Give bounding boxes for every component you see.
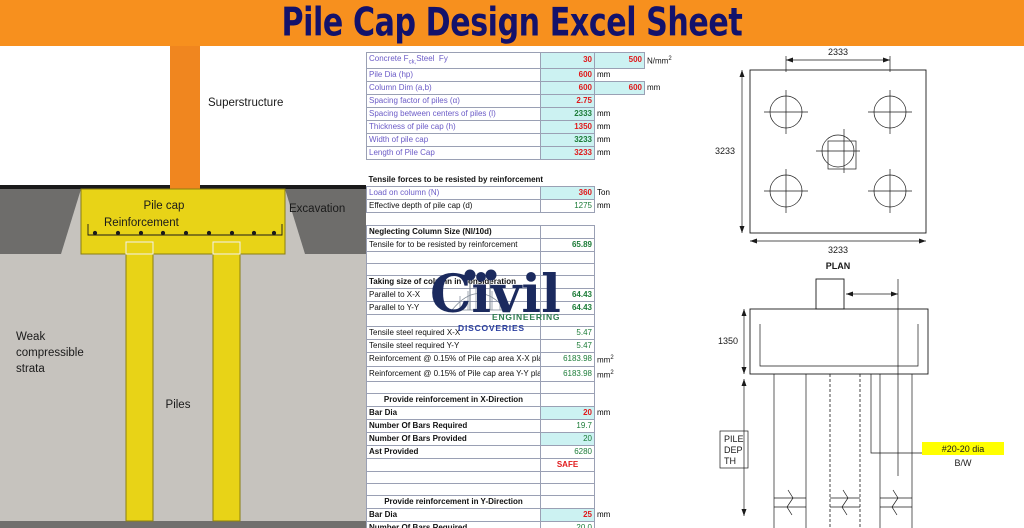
- cell-value-fck[interactable]: 30: [541, 52, 595, 69]
- cell-unit-reinf-yy: mm2: [595, 367, 645, 382]
- label-reinforcement: Reinforcement: [104, 217, 180, 229]
- cell-value-spacing-centers[interactable]: 2333: [541, 108, 595, 121]
- excel-spreadsheet[interactable]: Concrete Fck,Steel Fy 30 500 N/mm2 Pile …: [366, 46, 688, 528]
- cell-unit-bar-dia-y: mm: [595, 508, 645, 521]
- plan-view-drawing: 2333 3233 3233: [715, 47, 926, 271]
- cell-blank: [645, 339, 689, 352]
- section-view-drawing: 1350 PILE DEP TH: [718, 279, 1004, 528]
- cell-blank: [645, 95, 689, 108]
- cell-blank: [595, 471, 645, 483]
- section-heading-taking-size: Taking size of column in consideration: [367, 275, 541, 288]
- superstructure-column: [170, 46, 200, 189]
- page-title: Pile Cap Design Excel Sheet: [282, 3, 743, 42]
- cell-label-parallel-yy: Parallel to Y-Y: [367, 301, 541, 314]
- cell-label-bar-dia-x: Bar Dia: [367, 406, 541, 419]
- label-pile-cap: Pile cap: [144, 200, 185, 212]
- cell-value-parallel-xx[interactable]: 64.43: [541, 288, 595, 301]
- cell-label-spacing-centers: Spacing between centers of piles (l): [367, 108, 541, 121]
- section-heading-x-direction: Provide reinforcement in X-Direction: [367, 393, 541, 406]
- cell-label-reinf-015-xx: Reinforcement @ 0.15% of Pile cap area X…: [367, 352, 541, 367]
- section-pile-depth-label-2: DEP: [724, 445, 743, 455]
- label-weak-strata-3: strata: [16, 363, 45, 375]
- section-dim-pile-depth: PILE DEP TH: [720, 379, 748, 516]
- cell-value-length[interactable]: 3233: [541, 147, 595, 160]
- table-row[interactable]: Effective depth of pile cap (d) 1275 mm: [367, 199, 689, 212]
- cell-blank: [595, 339, 645, 352]
- section-dim-top: [846, 279, 898, 476]
- cell-value-column-b[interactable]: 600: [595, 82, 645, 95]
- table-row: Taking size of column in consideration: [367, 275, 689, 288]
- cell-blank: [645, 483, 689, 495]
- cell-value-bars-required-x[interactable]: 19.7: [541, 419, 595, 432]
- cell-label-length: Length of Pile Cap: [367, 147, 541, 160]
- label-superstructure: Superstructure: [208, 97, 283, 109]
- cell-blank: [541, 471, 595, 483]
- cell-blank: [595, 393, 645, 406]
- table-row[interactable]: Tensile for to be resisted by reinforcem…: [367, 238, 689, 251]
- plan-dim-top-label: 2333: [828, 47, 848, 57]
- table-row[interactable]: Concrete Fck,Steel Fy 30 500 N/mm2: [367, 52, 689, 69]
- table-row[interactable]: Pile Dia (hp) 600 mm: [367, 69, 689, 82]
- table-row[interactable]: Number Of Bars Required 20.0: [367, 521, 689, 528]
- cell-blank: [645, 367, 689, 382]
- rebar-note-label: #20-20 dia: [942, 444, 985, 454]
- cell-label-reinf-015-yy: Reinforcement @ 0.15% of Pile cap area Y…: [367, 367, 541, 382]
- cell-value-tensile-force-neglect[interactable]: 65.89: [541, 238, 595, 251]
- cell-label-pile-dia: Pile Dia (hp): [367, 69, 541, 82]
- cell-blank: [645, 393, 689, 406]
- table-row[interactable]: Column Dim (a,b) 600 600 mm: [367, 82, 689, 95]
- plan-dim-bottom-label: 3233: [828, 245, 848, 255]
- section-dim-thickness-label: 1350: [718, 336, 738, 346]
- cell-blank: [595, 326, 645, 339]
- cell-blank: [541, 225, 595, 238]
- dense-strata-layer: [0, 521, 366, 528]
- section-pile-cap: [750, 309, 928, 374]
- section-heading-neglecting: Neglecting Column Size (Nl/10d): [367, 225, 541, 238]
- section-pile-2-hidden: [830, 374, 860, 528]
- cell-blank: [645, 352, 689, 367]
- pile-foundation-illustration: Superstructure Pile cap Excavation Reinf…: [0, 46, 366, 528]
- plan-dim-left: 3233: [715, 70, 745, 233]
- cell-unit-bar-dia-x: mm: [595, 406, 645, 419]
- page-banner: Pile Cap Design Excel Sheet: [0, 0, 1024, 46]
- cell-value-bars-required-y[interactable]: 20.0: [541, 521, 595, 528]
- cell-value-fy[interactable]: 500: [595, 52, 645, 69]
- cell-blank: [595, 419, 645, 432]
- table-row[interactable]: Reinforcement @ 0.15% of Pile cap area Y…: [367, 367, 689, 382]
- cell-unit-stress: N/mm2: [645, 52, 689, 69]
- cell-blank: [645, 419, 689, 432]
- table-row: SAFE: [367, 458, 689, 471]
- label-excavation: Excavation: [289, 203, 345, 215]
- cell-unit-pile-dia: mm: [595, 69, 645, 82]
- cell-blank: [595, 495, 645, 508]
- table-row[interactable]: Length of Pile Cap 3233 mm: [367, 147, 689, 160]
- cell-blank: [367, 251, 541, 263]
- cell-value-bar-dia-y[interactable]: 25: [541, 508, 595, 521]
- cell-blank: [541, 381, 595, 393]
- cell-label-effective-depth: Effective depth of pile cap (d): [367, 199, 541, 212]
- cell-unit-length: mm: [595, 147, 645, 160]
- cell-blank: [541, 251, 595, 263]
- cell-blank: [595, 238, 645, 251]
- cell-blank: [645, 445, 689, 458]
- table-row: Provide reinforcement in X-Direction: [367, 393, 689, 406]
- table-row: Tensile forces to be resisted by reinfor…: [367, 174, 689, 187]
- cell-blank: [541, 263, 595, 275]
- section-rebar-leader: [871, 374, 988, 453]
- spreadsheet-table: Concrete Fck,Steel Fy 30 500 N/mm2 Pile …: [366, 46, 688, 528]
- cell-value-parallel-yy[interactable]: 64.43: [541, 301, 595, 314]
- table-row: [367, 471, 689, 483]
- cell-value-reinf-015-xx[interactable]: 6183.98: [541, 352, 595, 367]
- table-row[interactable]: Width of pile cap 3233 mm: [367, 134, 689, 147]
- cell-blank: [645, 495, 689, 508]
- cell-value-bars-provided-x[interactable]: 20: [541, 432, 595, 445]
- section-pile-depth-label-1: PILE: [724, 434, 744, 444]
- cell-value-spacing-factor[interactable]: 2.75: [541, 95, 595, 108]
- cell-blank: [595, 275, 645, 288]
- plan-dim-bottom: 3233: [750, 239, 926, 256]
- label-piles: Piles: [166, 399, 191, 411]
- section-pile-depth-label-3: TH: [724, 456, 736, 466]
- cell-value-ast-provided-x[interactable]: 6280: [541, 445, 595, 458]
- section-heading-y-direction: Provide reinforcement in Y-Direction: [367, 495, 541, 508]
- status-badge-safe-x: SAFE: [541, 458, 595, 471]
- cell-blank: [367, 483, 541, 495]
- cell-label-tensile-steel-xx: Tensile steel required X-X: [367, 326, 541, 339]
- cell-blank: [367, 314, 541, 326]
- cell-value-width[interactable]: 3233: [541, 134, 595, 147]
- cell-blank: [595, 251, 645, 263]
- table-row[interactable]: Bar Dia 20 mm: [367, 406, 689, 419]
- cell-blank: [645, 288, 689, 301]
- cell-blank: [541, 314, 595, 326]
- table-row[interactable]: Load on column (N) 360 Ton: [367, 186, 689, 199]
- cell-blank: [595, 174, 645, 187]
- cell-blank: [645, 69, 689, 82]
- table-row: [367, 483, 689, 495]
- cell-blank: [645, 225, 689, 238]
- cell-blank: [645, 381, 689, 393]
- table-row: [367, 251, 689, 263]
- table-row[interactable]: Number Of Bars Required 19.7: [367, 419, 689, 432]
- cell-blank: [645, 301, 689, 314]
- cell-blank: [645, 186, 689, 199]
- cell-blank: [645, 199, 689, 212]
- cell-blank: [595, 301, 645, 314]
- cell-blank: [645, 108, 689, 121]
- cell-blank: [645, 238, 689, 251]
- cell-blank: [645, 432, 689, 445]
- cell-unit-thickness: mm: [595, 121, 645, 134]
- cell-blank: [595, 483, 645, 495]
- cell-blank: [645, 326, 689, 339]
- cell-label-ast-provided-x: Ast Provided: [367, 445, 541, 458]
- section-pile-3: [880, 374, 912, 528]
- section-dim-thickness: 1350: [718, 309, 747, 374]
- cell-value-column-a[interactable]: 600: [541, 82, 595, 95]
- table-row[interactable]: Reinforcement @ 0.15% of Pile cap area X…: [367, 352, 689, 367]
- cell-blank: [367, 263, 541, 275]
- table-row: Neglecting Column Size (Nl/10d): [367, 225, 689, 238]
- cell-label-thickness: Thickness of pile cap (h): [367, 121, 541, 134]
- plan-view-title: PLAN: [826, 261, 851, 271]
- cell-blank: [595, 521, 645, 528]
- table-row: Provide reinforcement in Y-Direction: [367, 495, 689, 508]
- cell-blank: [367, 458, 541, 471]
- section-heading-tensile-forces: Tensile forces to be resisted by reinfor…: [367, 174, 595, 187]
- cell-label-concrete-steel: Concrete Fck,Steel Fy: [367, 52, 541, 69]
- cell-label-parallel-xx: Parallel to X-X: [367, 288, 541, 301]
- cell-label-tensile-steel-yy: Tensile steel required Y-Y: [367, 339, 541, 352]
- cell-blank: [595, 225, 645, 238]
- cell-value-reinf-015-yy[interactable]: 6183.98: [541, 367, 595, 382]
- plan-dim-left-label: 3233: [715, 146, 735, 156]
- cell-value-effective-depth[interactable]: 1275: [541, 199, 595, 212]
- cell-blank: [645, 121, 689, 134]
- cell-value-thickness[interactable]: 1350: [541, 121, 595, 134]
- table-row[interactable]: Parallel to X-X 64.43: [367, 288, 689, 301]
- technical-drawings-panel: 2333 3233 3233: [688, 46, 1024, 528]
- table-row[interactable]: Bar Dia 25 mm: [367, 508, 689, 521]
- cell-blank: [645, 147, 689, 160]
- cell-label-column-dim: Column Dim (a,b): [367, 82, 541, 95]
- table-row[interactable]: Tensile steel required Y-Y 5.47: [367, 339, 689, 352]
- cell-value-tensile-steel-xx[interactable]: 5.47: [541, 326, 595, 339]
- table-row: [367, 263, 689, 275]
- cell-value-pile-dia[interactable]: 600: [541, 69, 595, 82]
- cell-blank: [541, 393, 595, 406]
- cell-blank: [595, 263, 645, 275]
- cell-unit-effective-depth: mm: [595, 199, 645, 212]
- table-row[interactable]: Number Of Bars Provided 20: [367, 432, 689, 445]
- cell-blank: [541, 275, 595, 288]
- cell-blank: [645, 275, 689, 288]
- cell-blank: [595, 314, 645, 326]
- cell-value-bar-dia-x[interactable]: 20: [541, 406, 595, 419]
- cell-label-bars-required-x: Number Of Bars Required: [367, 419, 541, 432]
- cell-label-bars-required-y: Number Of Bars Required: [367, 521, 541, 528]
- cell-label-bar-dia-y: Bar Dia: [367, 508, 541, 521]
- cell-blank: [645, 508, 689, 521]
- cell-blank: [645, 134, 689, 147]
- cell-blank: [367, 471, 541, 483]
- cell-value-tensile-steel-yy[interactable]: 5.47: [541, 339, 595, 352]
- cell-blank: [595, 458, 645, 471]
- section-pile-1: [774, 374, 806, 528]
- cell-blank: [367, 381, 541, 393]
- plan-pile-symbols: [764, 90, 912, 213]
- cell-blank: [541, 495, 595, 508]
- plan-dim-top: 2333: [786, 47, 890, 72]
- pile-left: [126, 242, 153, 521]
- table-row[interactable]: Parallel to Y-Y 64.43: [367, 301, 689, 314]
- cell-blank: [645, 406, 689, 419]
- label-weak-strata-2: compressible: [16, 347, 84, 359]
- cell-unit-width: mm: [595, 134, 645, 147]
- cell-blank: [541, 483, 595, 495]
- plan-cap-outline: [750, 70, 926, 233]
- cell-label-bars-provided-x: Number Of Bars Provided: [367, 432, 541, 445]
- cell-blank: [645, 263, 689, 275]
- table-row[interactable]: Ast Provided 6280: [367, 445, 689, 458]
- table-row[interactable]: Tensile steel required X-X 5.47: [367, 326, 689, 339]
- table-row[interactable]: Spacing between centers of piles (l) 233…: [367, 108, 689, 121]
- cell-unit-column-dim: mm: [645, 82, 689, 95]
- section-column-stub: [816, 279, 844, 309]
- cell-blank: [645, 251, 689, 263]
- table-row[interactable]: Spacing factor of piles (α) 2.75: [367, 95, 689, 108]
- section-rebar-cage: [760, 324, 918, 366]
- cell-blank: [645, 471, 689, 483]
- table-row[interactable]: Thickness of pile cap (h) 1350 mm: [367, 121, 689, 134]
- cell-blank: [595, 445, 645, 458]
- cell-unit-load-column: Ton: [595, 186, 645, 199]
- pile-right: [213, 242, 240, 521]
- cell-value-load-column[interactable]: 360: [541, 186, 595, 199]
- cell-blank: [595, 95, 645, 108]
- table-row: [367, 381, 689, 393]
- cell-label-width: Width of pile cap: [367, 134, 541, 147]
- cell-blank: [645, 458, 689, 471]
- cell-blank: [595, 288, 645, 301]
- cell-label-spacing-factor: Spacing factor of piles (α): [367, 95, 541, 108]
- cell-blank: [645, 174, 689, 187]
- cell-label-load-column: Load on column (N): [367, 186, 541, 199]
- cell-blank: [595, 432, 645, 445]
- cell-blank: [645, 521, 689, 528]
- rebar-note-sublabel: B/W: [955, 458, 973, 468]
- label-weak-strata-1: Weak: [16, 331, 45, 343]
- cell-blank: [595, 381, 645, 393]
- cell-unit-spacing-centers: mm: [595, 108, 645, 121]
- table-row: [367, 314, 689, 326]
- cell-blank: [645, 314, 689, 326]
- cell-unit-reinf-xx: mm2: [595, 352, 645, 367]
- cell-label-tensile-force-neglect: Tensile for to be resisted by reinforcem…: [367, 238, 541, 251]
